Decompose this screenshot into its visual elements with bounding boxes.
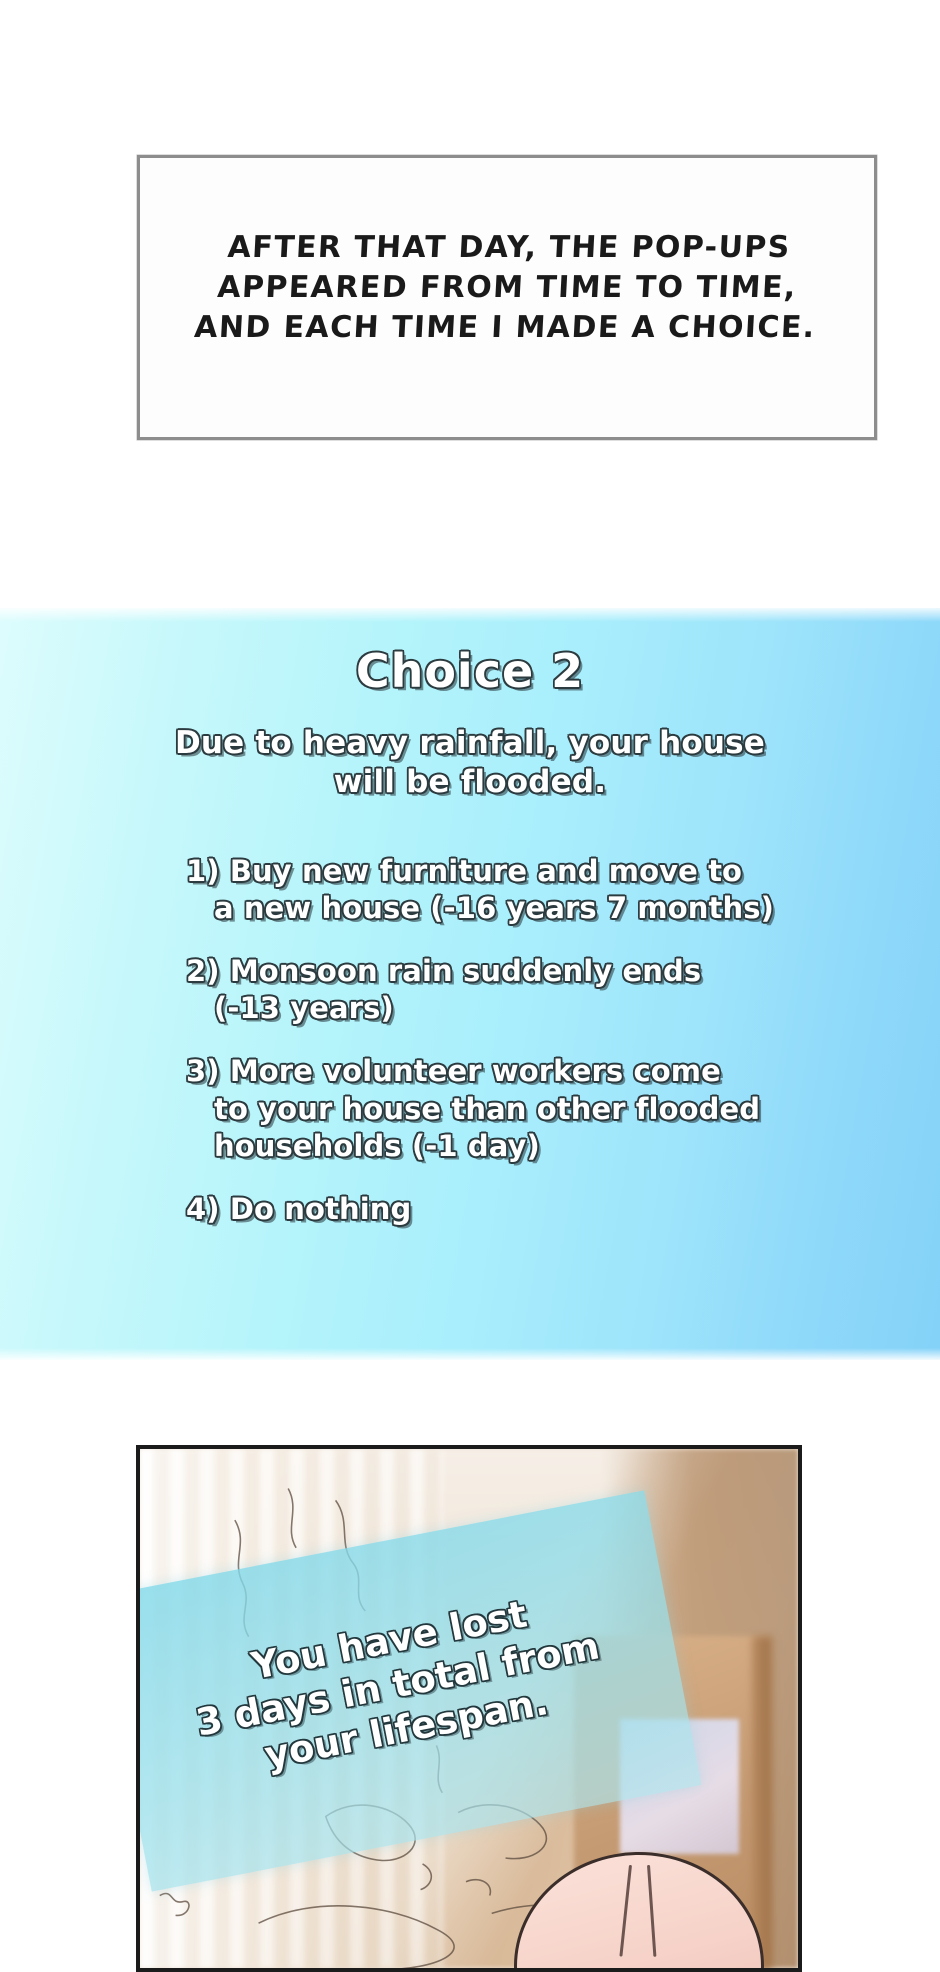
hair-strand-icon xyxy=(647,1865,656,1957)
choice-option-2[interactable]: 2) Monsoon rain suddenly ends (-13 years… xyxy=(186,953,820,1027)
hair-strand-icon xyxy=(619,1865,632,1957)
choice-option-1[interactable]: 1) Buy new furniture and move to a new h… xyxy=(186,853,820,927)
webtoon-page: AFTER THAT DAY, THE POP-UPS APPEARED FRO… xyxy=(0,0,940,1972)
choice-popup-panel: Choice 2 Due to heavy rainfall, your hou… xyxy=(0,608,940,1360)
lifespan-message-text: You have lost 3 days in total from your … xyxy=(154,1573,641,1796)
narration-caption-box: AFTER THAT DAY, THE POP-UPS APPEARED FRO… xyxy=(137,155,877,440)
choice-option-4[interactable]: 4) Do nothing xyxy=(186,1191,820,1228)
scene-panel: You have lost 3 days in total from your … xyxy=(0,1360,940,1972)
choice-option-3[interactable]: 3) More volunteer workers come to your h… xyxy=(186,1053,820,1164)
narration-panel: AFTER THAT DAY, THE POP-UPS APPEARED FRO… xyxy=(0,0,940,608)
choice-title: Choice 2 xyxy=(0,644,940,698)
choice-prompt: Due to heavy rainfall, your house will b… xyxy=(90,724,850,802)
choice-option-list: 1) Buy new furniture and move to a new h… xyxy=(186,853,820,1254)
narration-text: AFTER THAT DAY, THE POP-UPS APPEARED FRO… xyxy=(137,228,877,348)
scene-frame: You have lost 3 days in total from your … xyxy=(136,1445,802,1972)
